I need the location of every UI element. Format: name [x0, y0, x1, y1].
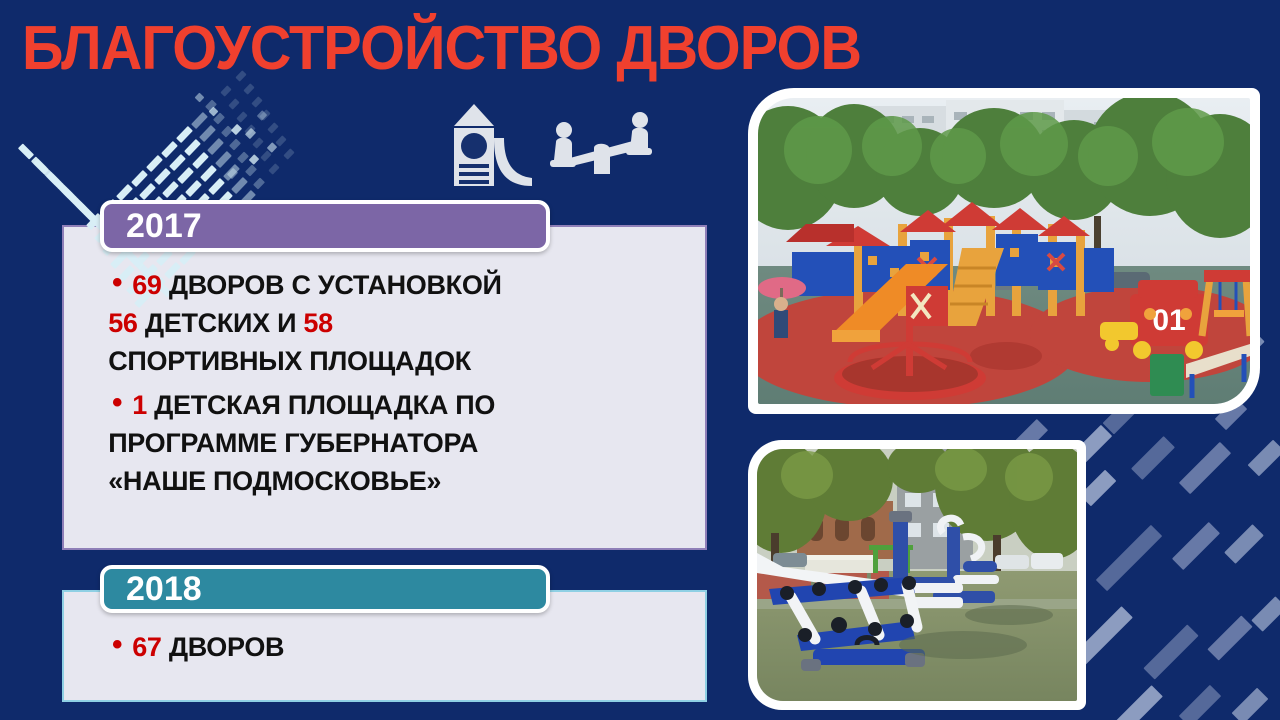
- year-chip-2018-label: 2018: [126, 570, 202, 609]
- bullet-segment: ДВОРОВ: [162, 632, 285, 662]
- checkmark-dash: [220, 85, 231, 96]
- checkmark-dash: [243, 83, 254, 94]
- checkmark-dash: [192, 152, 209, 169]
- fire-truck-number: 01: [1152, 304, 1185, 337]
- checkmark-dash: [231, 176, 248, 193]
- checkmark-dash: [237, 151, 249, 163]
- checkmark-dash: [195, 93, 205, 103]
- background-dash: [1179, 442, 1231, 494]
- checkmark-dash: [146, 155, 163, 172]
- checkmark-dash: [139, 182, 156, 199]
- checkmark-dash: [177, 166, 194, 183]
- background-dash: [1251, 596, 1280, 631]
- checkmark-dash: [184, 139, 201, 156]
- checkmark-dash: [276, 135, 287, 146]
- year-chip-2018: 2018: [100, 565, 550, 613]
- playground-photo: 01: [758, 98, 1250, 404]
- seesaw-icon: [548, 112, 656, 184]
- bullet-dot-icon: •: [112, 266, 122, 300]
- metric-number: 69: [132, 270, 161, 300]
- checkmark-dash: [245, 164, 257, 176]
- checkmark-dash: [229, 138, 241, 150]
- background-dash: [1207, 615, 1252, 660]
- checkmark-dash: [199, 124, 216, 141]
- checkmark-dash: [236, 111, 247, 122]
- checkmark-dash: [116, 184, 133, 201]
- bullet-dot-icon: •: [112, 628, 122, 662]
- checkmark-dash: [200, 165, 217, 182]
- checkmark-dash: [176, 126, 193, 143]
- checkmark-dash: [228, 98, 239, 109]
- bullet-segment: ДЕТСКАЯ ПЛОЩАДКА ПО: [147, 390, 495, 420]
- checkmark-dash: [131, 169, 148, 186]
- checkmark-dash: [169, 153, 186, 170]
- bullet-item: •67 ДВОРОВ: [112, 628, 672, 666]
- background-dash: [1096, 525, 1162, 591]
- year-chip-2017-label: 2017: [126, 207, 202, 246]
- background-dash: [1143, 624, 1198, 679]
- checkmark-dash: [231, 124, 242, 135]
- bullet-item: •69 ДВОРОВ С УСТАНОВКОЙ56 ДЕТСКИХ И 58СП…: [112, 266, 672, 380]
- background-dash: [1248, 440, 1280, 477]
- bullet-list-2017: •69 ДВОРОВ С УСТАНОВКОЙ56 ДЕТСКИХ И 58СП…: [112, 266, 672, 506]
- bullet-line: 1 ДЕТСКАЯ ПЛОЩАДКА ПО: [132, 386, 495, 424]
- checkmark-dash: [284, 148, 295, 159]
- background-dash: [1131, 436, 1175, 480]
- slide-root: БЛАГОУСТРОЙСТВО ДВОРОВ 2017 •69 ДВОРОВ С…: [0, 0, 1280, 720]
- background-dash: [1224, 524, 1264, 564]
- bullet-item: •1 ДЕТСКАЯ ПЛОЩАДКА ПОПРОГРАММЕ ГУБЕРНАТ…: [112, 386, 672, 500]
- bullet-segment: «НАШЕ ПОДМОСКОВЬЕ»: [108, 466, 441, 496]
- checkmark-dash: [268, 122, 279, 133]
- background-dash: [1109, 685, 1163, 720]
- bullet-segment: ДВОРОВ С УСТАНОВКОЙ: [162, 270, 502, 300]
- bullet-segment: ДЕТСКИХ И: [138, 308, 304, 338]
- checkmark-dash: [207, 137, 224, 154]
- outdoor-gym-photo-frame: [748, 440, 1086, 710]
- year-chip-2017: 2017: [100, 200, 550, 252]
- metric-number: 58: [303, 308, 332, 338]
- checkmark-dash: [253, 177, 265, 189]
- outdoor-gym-photo: [757, 449, 1077, 701]
- playground-slide-icon: [442, 104, 538, 190]
- bullet-text: 1 ДЕТСКАЯ ПЛОЩАДКА ПОПРОГРАММЕ ГУБЕРНАТО…: [132, 386, 495, 500]
- page-title: БЛАГОУСТРОЙСТВО ДВОРОВ: [22, 18, 861, 80]
- checkmark-dash: [253, 137, 264, 148]
- bullet-dot-icon: •: [112, 386, 122, 420]
- background-dash: [1179, 685, 1221, 720]
- bullet-line: СПОРТИВНЫХ ПЛОЩАДОК: [108, 342, 501, 380]
- background-dash: [1232, 688, 1269, 720]
- bullet-segment: СПОРТИВНЫХ ПЛОЩАДОК: [108, 346, 471, 376]
- checkmark-dash: [249, 154, 260, 165]
- checkmark-dash: [215, 150, 232, 167]
- checkmark-dash: [185, 179, 202, 196]
- bullet-text: 69 ДВОРОВ С УСТАНОВКОЙ56 ДЕТСКИХ И 58СПО…: [132, 266, 501, 380]
- bullet-list-2018: •67 ДВОРОВ: [112, 628, 672, 672]
- checkmark-dash: [162, 181, 179, 198]
- checkmark-dash: [161, 140, 178, 157]
- checkmark-dash: [191, 111, 208, 128]
- checkmark-dash: [269, 163, 280, 174]
- bullet-line: 69 ДВОРОВ С УСТАНОВКОЙ: [132, 266, 501, 304]
- bullet-line: «НАШЕ ПОДМОСКОВЬЕ»: [108, 462, 495, 500]
- checkmark-dash: [154, 168, 171, 185]
- bullet-line: 56 ДЕТСКИХ И 58: [108, 304, 501, 342]
- metric-number: 67: [132, 632, 161, 662]
- metric-number: 56: [108, 308, 137, 338]
- bullet-line: ПРОГРАММЕ ГУБЕРНАТОРА: [108, 424, 495, 462]
- bullet-segment: ПРОГРАММЕ ГУБЕРНАТОРА: [108, 428, 478, 458]
- checkmark-dash: [18, 143, 34, 159]
- playground-photo-frame: 01: [748, 88, 1260, 414]
- bullet-line: 67 ДВОРОВ: [132, 628, 284, 666]
- checkmark-dash: [251, 96, 262, 107]
- bullet-text: 67 ДВОРОВ: [132, 628, 284, 666]
- background-dash: [1172, 522, 1220, 570]
- metric-number: 1: [132, 390, 147, 420]
- checkmark-dash: [208, 178, 225, 195]
